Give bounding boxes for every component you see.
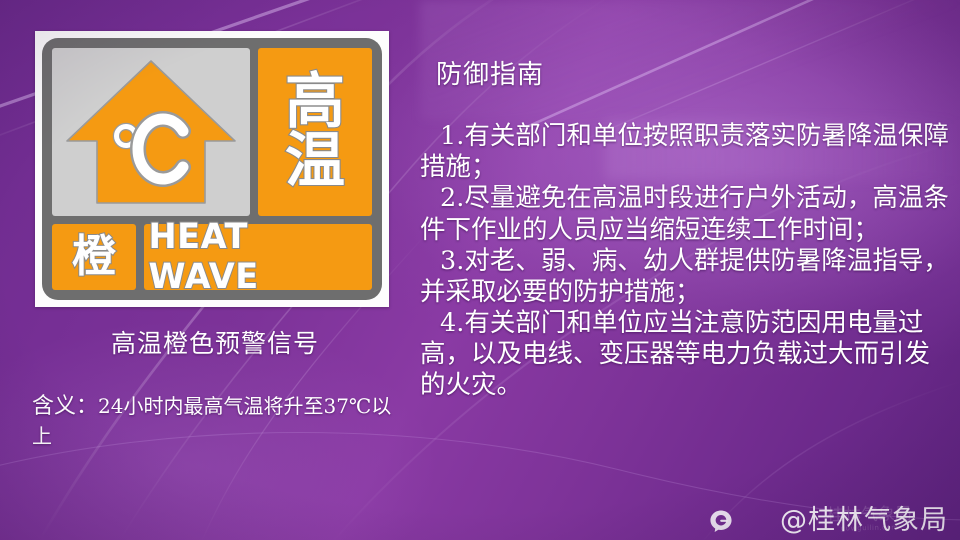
vignette-overlay (0, 0, 960, 540)
slide-canvas: 高 温 橙 HEAT WAVE 高温橙色预警信号 含义：24小时内最高气温将升至… (0, 0, 960, 540)
